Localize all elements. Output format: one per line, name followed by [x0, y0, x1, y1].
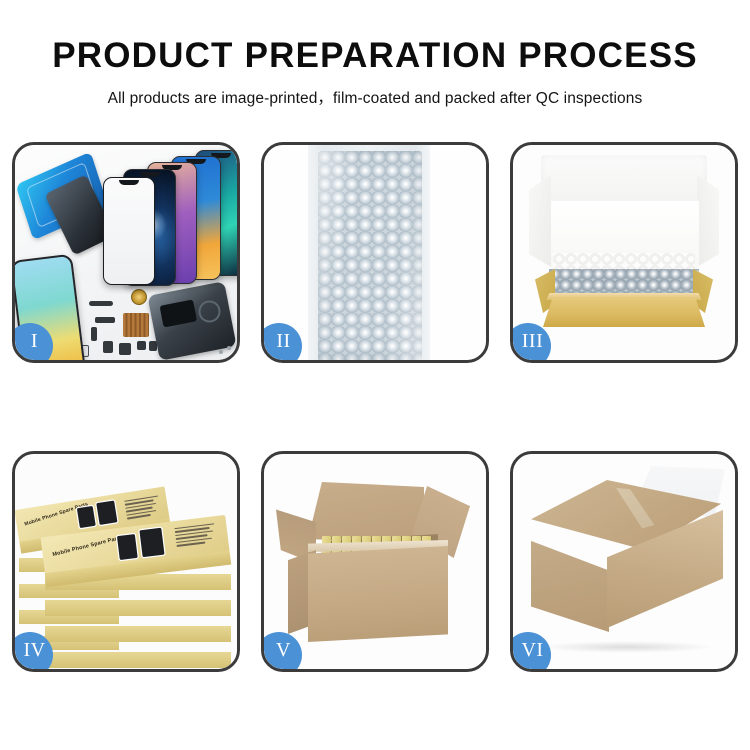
step-image-1: I: [15, 145, 237, 360]
step-badge-3: III: [513, 323, 551, 360]
vibration-motor-icon: [131, 289, 147, 305]
screw-icon: [227, 346, 231, 350]
flex-connector-part: [95, 317, 115, 323]
step-panel-6: VI: [510, 451, 738, 672]
small-bracket-part: [91, 327, 97, 341]
process-step-grid: I II II: [12, 142, 738, 672]
box-stack: Mobile Phone Spare Parts Mobile Phon: [15, 454, 237, 669]
step-image-3: III: [513, 145, 735, 360]
box-front-edge: [45, 652, 231, 668]
button-part: [137, 341, 146, 350]
step-panel-1: I: [12, 142, 240, 363]
step-image-5: V: [264, 454, 486, 669]
phone-back-housing: [147, 281, 236, 360]
step-badge-6: VI: [513, 632, 551, 669]
box-front-edge: [45, 600, 231, 616]
header: PRODUCT PREPARATION PROCESS All products…: [0, 0, 750, 108]
box-label-text: Mobile Phone Spare Parts: [52, 535, 123, 558]
spec-list: [174, 523, 216, 549]
spec-list: [124, 496, 161, 522]
logic-board-chip-part: [123, 313, 149, 337]
stacked-box: [45, 596, 231, 616]
box-flap-right: [697, 175, 719, 267]
box-front-edge: [45, 626, 231, 642]
screw-icon: [219, 350, 223, 354]
earpiece-speaker-part: [89, 301, 113, 306]
bubble-wrap-sheen: [318, 151, 422, 360]
step-image-2: II: [264, 145, 486, 360]
stacked-box: [45, 622, 231, 642]
step-image-4: Mobile Phone Spare Parts Mobile Phon: [15, 454, 237, 669]
carton-shadow: [539, 641, 715, 653]
speaker-part: [119, 343, 131, 355]
step-badge-5: V: [264, 632, 302, 669]
phone-screen-1-blank: [103, 177, 155, 285]
sim-tray-part: [103, 341, 113, 353]
sealed-carton-left-face: [531, 526, 609, 632]
phone-image-icon: [139, 528, 164, 557]
box-front-panel: [543, 297, 705, 327]
notch-icon: [119, 180, 139, 185]
page-title: PRODUCT PREPARATION PROCESS: [0, 38, 750, 73]
step-image-6: VI: [513, 454, 735, 669]
phone-image-icon: [117, 534, 138, 560]
box-flap-left: [529, 175, 551, 267]
carton-flap-back: [308, 482, 424, 544]
step-panel-5: V: [261, 451, 489, 672]
step-badge-2: II: [264, 323, 302, 360]
product-preparation-infographic: PRODUCT PREPARATION PROCESS All products…: [0, 0, 750, 750]
step-panel-2: II: [261, 142, 489, 363]
stacked-box: [45, 648, 231, 668]
page-subtitle: All products are image-printed，film-coat…: [0, 86, 750, 108]
step-panel-4: Mobile Phone Spare Parts Mobile Phon: [12, 451, 240, 672]
phone-image-icon: [77, 506, 96, 528]
phone-image-icon: [96, 500, 117, 525]
carton-front-panel: [308, 546, 448, 642]
step-panel-3: III: [510, 142, 738, 363]
